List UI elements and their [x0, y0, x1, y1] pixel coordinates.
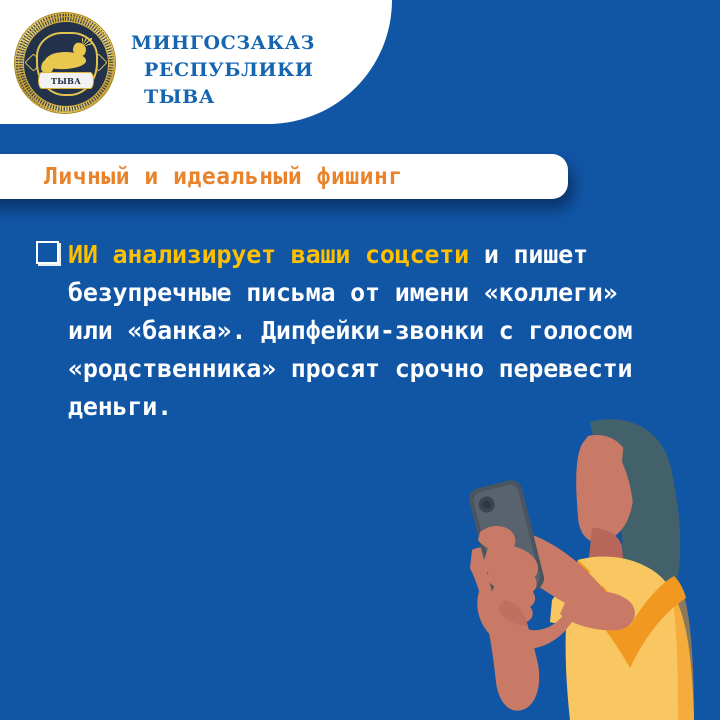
emblem-ribbon: ТЫВА: [38, 72, 94, 89]
checkbox-square-icon: [36, 241, 59, 264]
org-title-line2: РЕСПУБЛИКИ ТЫВА: [131, 57, 381, 111]
banner-title: Личный и идеальный фишинг: [44, 164, 403, 190]
body-block: ИИ анализирует ваши соцсети и пишет безу…: [34, 236, 674, 426]
title-banner: Личный и идеальный фишинг: [0, 154, 568, 199]
emblem-ribbon-label: ТЫВА: [51, 77, 81, 85]
organization-title: МИНГОСЗАКАЗ РЕСПУБЛИКИ ТЫВА: [131, 30, 381, 111]
org-title-line1: МИНГОСЗАКАЗ: [131, 30, 381, 57]
poster-canvas: ТЫВА МИНГОСЗАКАЗ РЕСПУБЛИКИ ТЫВА Личный …: [0, 0, 720, 720]
woman-looking-at-smartphone-illustration: [392, 400, 720, 720]
body-highlight: ИИ анализирует ваши соцсети: [68, 240, 469, 269]
tyva-state-emblem-icon: ТЫВА: [14, 12, 116, 114]
body-paragraph: ИИ анализирует ваши соцсети и пишет безу…: [34, 236, 674, 426]
